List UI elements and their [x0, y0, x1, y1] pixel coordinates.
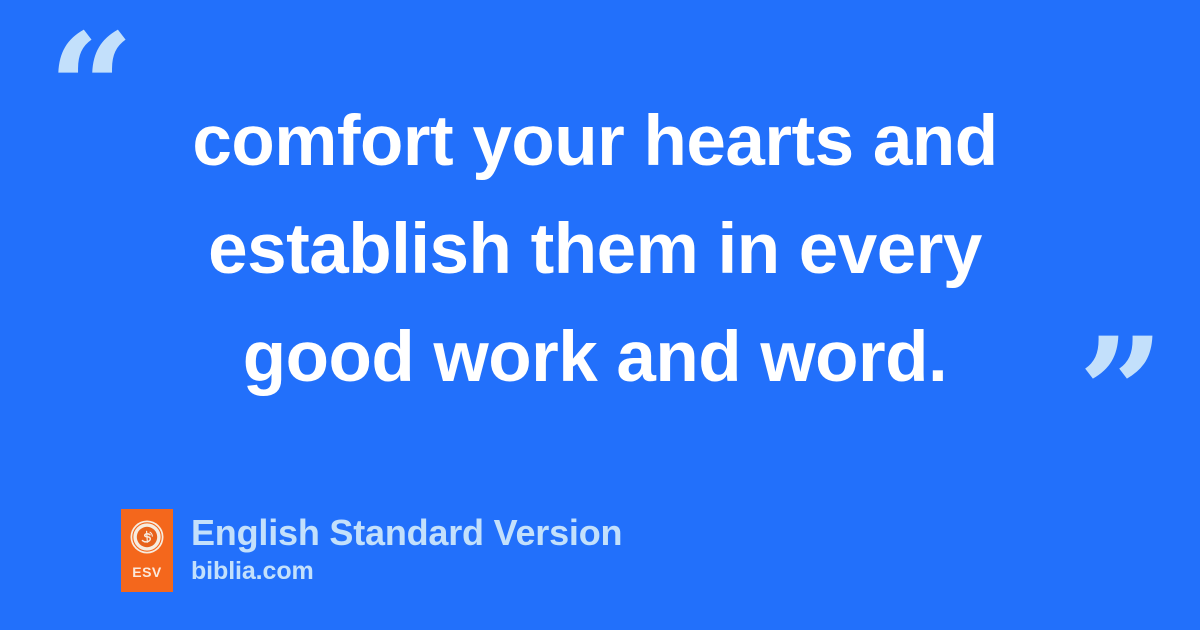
quote-line: good work and word.: [90, 304, 1100, 412]
esv-badge-label: ESV: [132, 565, 162, 579]
quote-card: “ comfort your hearts and establish them…: [0, 0, 1200, 630]
bible-version-name: English Standard Version: [191, 512, 622, 554]
quote-text-block: comfort your hearts and establish them i…: [90, 88, 1100, 412]
quote-line: comfort your hearts and: [90, 88, 1100, 196]
attribution-block[interactable]: ESV English Standard Version biblia.com: [121, 509, 622, 592]
esv-seal-icon: [130, 520, 164, 554]
attribution-text: English Standard Version biblia.com: [191, 509, 622, 586]
site-url-link[interactable]: biblia.com: [191, 556, 622, 586]
quote-line: establish them in every: [90, 196, 1100, 304]
closing-quote-icon: ”: [1078, 318, 1164, 468]
esv-badge[interactable]: ESV: [121, 509, 173, 592]
